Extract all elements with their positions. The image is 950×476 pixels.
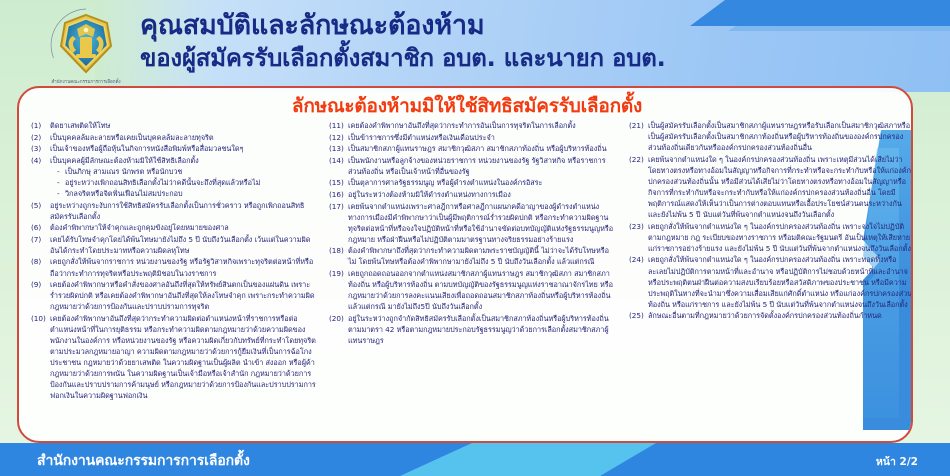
provision-text: เป็นสมาชิกสภาผู้แทนราษฎร สมาชิกวุฒิสภา ส… <box>348 143 617 154</box>
provision-text: เคยถูกสั่งให้พ้นจากตำแหน่งใด ๆ ในองค์กรป… <box>648 254 913 309</box>
provisions-columns: (1)ติดยาเสพติดให้โทษ(2)เป็นบุคคลล้มละลาย… <box>19 120 913 442</box>
provision-text: เป็นบุคคลล้มละลายหรือเคยเป็นบุคคลล้มละลา… <box>50 132 317 143</box>
provision-text: เคยต้องคำพิพากษาหรือคำสั่งของศาลอันถึงที… <box>50 279 317 312</box>
provision-number: (11) <box>329 120 348 131</box>
provision-item: (20)อยู่ในระหว่างถูกจำกัดสิทธิสมัครรับเล… <box>329 313 617 346</box>
provision-number: (16) <box>329 189 348 200</box>
footer-organization: สำนักงานคณะกรรมการการเลือกตั้ง <box>37 450 250 472</box>
provision-item: (10)เคยต้องคำพิพากษาอันถึงที่สุดว่ากระทำ… <box>31 313 317 402</box>
provisions-column-1: (1)ติดยาเสพติดให้โทษ(2)เป็นบุคคลล้มละลาย… <box>25 120 323 442</box>
provision-item: (19)เคยถูกถอดถอนออกจากตำแหน่งสมาชิกสภาผู… <box>329 268 617 312</box>
provision-item: (9)เคยต้องคำพิพากษาหรือคำสั่งของศาลอันถึ… <box>31 279 317 312</box>
provision-number: (13) <box>329 143 348 154</box>
provision-number: (6) <box>31 222 50 233</box>
provision-number: (22) <box>629 154 648 165</box>
provision-text: อยู่ระหว่างถูกระงับการใช้สิทธิสมัครรับเล… <box>50 200 317 222</box>
provision-item: (24)เคยถูกสั่งให้พ้นจากตำแหน่งใด ๆ ในองค… <box>629 254 913 309</box>
provision-text: เคยถูกสั่งให้พ้นจากราชการ หน่วยงานของรัฐ… <box>50 256 317 278</box>
provision-item: (8)เคยถูกสั่งให้พ้นจากราชการ หน่วยงานของ… <box>31 256 317 278</box>
provision-item: (25)ลักษณะอื่นตามที่กฎหมายว่าด้วยการจัดต… <box>629 310 913 321</box>
provision-text: เคยได้รับโทษจำคุกโดยได้พ้นโทษมายังไม่ถึง… <box>50 234 317 256</box>
poster-header: สำนักงานคณะกรรมการการเลือกตั้ง คุณสมบัติ… <box>0 0 950 92</box>
poster-footer: สำนักงานคณะกรรมการการเลือกตั้ง หน้า 2/2 <box>0 443 950 476</box>
provision-number: (20) <box>329 313 348 324</box>
provision-text: เคยพ้นจากตำแหน่งเพราะศาลฎีกาหรือศาลฎีกาแ… <box>348 201 617 245</box>
election-commission-emblem-icon: สำนักงานคณะกรรมการการเลือกตั้ง <box>47 6 125 86</box>
poster-root: สำนักงานคณะกรรมการการเลือกตั้ง คุณสมบัติ… <box>0 0 950 476</box>
provision-number: (8) <box>31 256 50 267</box>
provision-text: เป็นบุคคลผู้มีลักษณะต้องห้ามมิให้ใช้สิทธ… <box>50 155 317 166</box>
provision-text: เป็นผู้สมัครรับเลือกตั้งเป็นสมาชิกสภาผู้… <box>648 120 913 153</box>
provision-number: (12) <box>329 132 348 143</box>
provision-text: เป็นข้าราชการซึ่งมีตำแหน่งหรือเงินเดือนป… <box>348 132 617 143</box>
provisions-column-2: (11)เคยต้องคำพิพากษาอันถึงที่สุดว่ากระทำ… <box>323 120 623 442</box>
provision-number: (23) <box>629 221 648 232</box>
provision-item: (2)เป็นบุคคลล้มละลายหรือเคยเป็นบุคคลล้มล… <box>31 132 317 143</box>
provision-item: (22)เคยพ้นจากตำแหน่งใด ๆ ในองค์กรปกครองส… <box>629 154 913 220</box>
provision-item: (3)เป็นเจ้าของหรือผู้ถือหุ้นในกิจการหนัง… <box>31 143 317 154</box>
provision-sub-item: -เป็นภิกษุ สามเณร นักพรต หรือนักบวช <box>57 166 317 177</box>
provision-number: (19) <box>329 268 348 279</box>
provision-sub-text: เป็นภิกษุ สามเณร นักพรต หรือนักบวช <box>65 166 182 177</box>
title-line-2: ของผู้สมัครรับเลือกตั้งสมาชิก อบต. และนา… <box>140 43 840 74</box>
provision-number: (10) <box>31 313 50 324</box>
provision-text: ลักษณะอื่นตามที่กฎหมายว่าด้วยการจัดตั้งอ… <box>648 310 913 321</box>
provision-number: (21) <box>629 120 648 131</box>
provision-number: (5) <box>31 200 50 211</box>
provision-sub-item: -วิกลจริตหรือจิตฟั่นเฟือนไม่สมประกอบ <box>57 188 317 199</box>
provision-item: (7)เคยได้รับโทษจำคุกโดยได้พ้นโทษมายังไม่… <box>31 234 317 256</box>
provision-text: เคยถูกถอดถอนออกจากตำแหน่งสมาชิกสภาผู้แทน… <box>348 268 617 312</box>
provision-number: (17) <box>329 201 348 212</box>
content-card: ลักษณะต้องห้ามมิให้ใช้สิทธิสมัครรับเลือก… <box>17 86 913 443</box>
provision-number: (24) <box>629 254 648 265</box>
provision-sub-text: อยู่ระหว่างเพิกถอนสิทธิเลือกตั้งไม่ว่าคด… <box>65 177 260 188</box>
provision-text: เป็นพนักงานหรือลูกจ้างของหน่วยราชการ หน่… <box>348 155 617 177</box>
provision-text: เคยถูกสั่งให้พ้นจากตำแหน่งใด ๆ ในองค์กรป… <box>648 221 913 254</box>
provision-item: (6)ต้องคำพิพากษาให้จำคุกและถูกคุมขังอยู่… <box>31 222 317 233</box>
provision-number: (9) <box>31 279 50 290</box>
provision-item: (11)เคยต้องคำพิพากษาอันถึงที่สุดว่ากระทำ… <box>329 120 617 131</box>
provisions-column-3: (21)เป็นผู้สมัครรับเลือกตั้งเป็นสมาชิกสภ… <box>623 120 913 442</box>
provision-number: (25) <box>629 310 648 321</box>
provision-item: (12)เป็นข้าราชการซึ่งมีตำแหน่งหรือเงินเด… <box>329 132 617 143</box>
provision-number: (15) <box>329 177 348 188</box>
provision-item: (14)เป็นพนักงานหรือลูกจ้างของหน่วยราชการ… <box>329 155 617 177</box>
provision-sub-item: -อยู่ระหว่างเพิกถอนสิทธิเลือกตั้งไม่ว่าค… <box>57 177 317 188</box>
provision-text: อยู่ในระหว่างถูกจำกัดสิทธิสมัครรับเลือกต… <box>348 313 617 346</box>
provision-text: เป็นตุลาการศาลรัฐธรรมนูญ หรือผู้ดำรงตำแห… <box>348 177 617 188</box>
provision-number: (7) <box>31 234 50 245</box>
provision-sub-dash: - <box>57 166 65 177</box>
provision-number: (3) <box>31 143 50 154</box>
provision-item: (17)เคยพ้นจากตำแหน่งเพราะศาลฎีกาหรือศาลฎ… <box>329 201 617 245</box>
provision-number: (4) <box>31 155 50 166</box>
provision-item: (4)เป็นบุคคลผู้มีลักษณะต้องห้ามมิให้ใช้ส… <box>31 155 317 166</box>
page-title: คุณสมบัติและลักษณะต้องห้าม ของผู้สมัครรั… <box>140 9 840 74</box>
provision-item: (15)เป็นตุลาการศาลรัฐธรรมนูญ หรือผู้ดำรง… <box>329 177 617 188</box>
provision-item: (16)อยู่ในระหว่างต้องห้ามมิให้ดำรงตำแหน่… <box>329 189 617 200</box>
provision-item: (1)ติดยาเสพติดให้โทษ <box>31 120 317 131</box>
provision-number: (1) <box>31 120 50 131</box>
provision-number: (2) <box>31 132 50 143</box>
provision-number: (18) <box>329 245 348 256</box>
provision-text: อยู่ในระหว่างต้องห้ามมิให้ดำรงตำแหน่งทาง… <box>348 189 617 200</box>
section-title: ลักษณะต้องห้ามมิให้ใช้สิทธิสมัครรับเลือก… <box>19 91 913 121</box>
title-line-1: คุณสมบัติและลักษณะต้องห้าม <box>140 9 840 43</box>
provision-item: (5)อยู่ระหว่างถูกระงับการใช้สิทธิสมัครรั… <box>31 200 317 222</box>
provision-item: (21)เป็นผู้สมัครรับเลือกตั้งเป็นสมาชิกสภ… <box>629 120 913 153</box>
provision-sub-dash: - <box>57 188 65 199</box>
provision-item: (13)เป็นสมาชิกสภาผู้แทนราษฎร สมาชิกวุฒิส… <box>329 143 617 154</box>
provision-sub-dash: - <box>57 177 65 188</box>
provision-text: เคยต้องคำพิพากษาอันถึงที่สุดว่ากระทำความ… <box>50 313 317 402</box>
footer-page-number: หน้า 2/2 <box>876 453 918 470</box>
provision-text: เป็นเจ้าของหรือผู้ถือหุ้นในกิจการหนังสือ… <box>50 143 317 154</box>
provision-item: (18)ต้องคำพิพากษาถึงที่สุดว่ากระทำความผิ… <box>329 245 617 267</box>
provision-number: (14) <box>329 155 348 166</box>
provision-sub-text: วิกลจริตหรือจิตฟั่นเฟือนไม่สมประกอบ <box>65 188 183 199</box>
provision-text: เคยต้องคำพิพากษาอันถึงที่สุดว่ากระทำการอ… <box>348 120 617 131</box>
svg-text:สำนักงานคณะกรรมการการเลือกตั้ง: สำนักงานคณะกรรมการการเลือกตั้ง <box>51 78 120 85</box>
provision-text: ต้องคำพิพากษาให้จำคุกและถูกคุมขังอยู่โดย… <box>50 222 317 233</box>
provision-text: เคยพ้นจากตำแหน่งใด ๆ ในองค์กรปกครองส่วนท… <box>648 154 913 220</box>
provision-item: (23)เคยถูกสั่งให้พ้นจากตำแหน่งใด ๆ ในองค… <box>629 221 913 254</box>
provision-text: ติดยาเสพติดให้โทษ <box>50 120 317 131</box>
provision-text: ต้องคำพิพากษาถึงที่สุดว่ากระทำความผิดตาม… <box>348 245 617 267</box>
